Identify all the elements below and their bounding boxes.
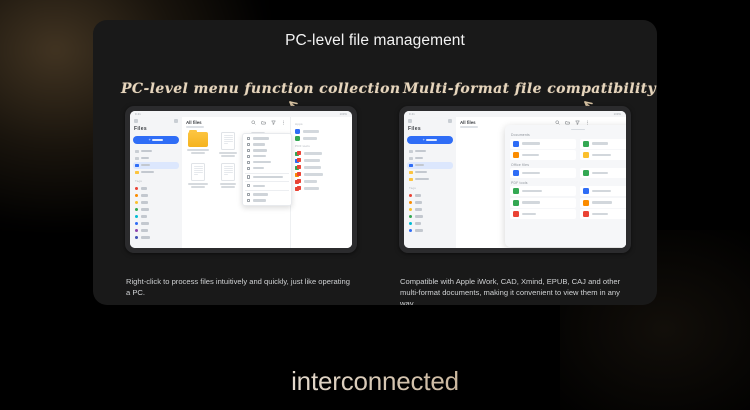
tablet-left-screen: 9:41 100% Files + Tags <box>130 111 352 248</box>
file-name <box>188 183 208 185</box>
doc-line <box>224 139 233 140</box>
file-main-pane: All files DocumentsOffice filesPDF tools <box>456 117 594 248</box>
pdf-file-icon <box>295 158 301 164</box>
file-type-icon <box>513 170 519 176</box>
file-type-icon <box>583 211 589 217</box>
file-main-pane: All files <box>182 117 290 248</box>
sidebar-tag-list[interactable] <box>133 185 179 241</box>
breadcrumb-subline <box>460 126 478 128</box>
tag-dot-icon <box>135 215 138 218</box>
tag-dot-icon <box>135 236 138 239</box>
sidebar-item-label <box>141 157 149 159</box>
info-row-label <box>304 173 323 175</box>
new-button-label <box>426 139 437 141</box>
sidebar-tag-label <box>141 236 150 238</box>
menu-item-icon <box>247 167 250 170</box>
info-row[interactable] <box>295 150 349 157</box>
brand-wordmark: interconnected <box>0 366 750 397</box>
tablet-right-screen: 9:41 100% Files + Tags <box>404 111 626 248</box>
tag-dot-icon <box>409 208 412 211</box>
sidebar-tag-item[interactable] <box>133 227 179 234</box>
sidebar-item-label <box>141 164 150 166</box>
dialog-item[interactable] <box>580 150 626 160</box>
tag-dot-icon <box>135 208 138 211</box>
info-row-label <box>304 180 317 182</box>
dialog-item-label <box>592 201 612 203</box>
filter-icon[interactable] <box>271 120 276 125</box>
sidebar-section-label: Tags <box>409 186 453 190</box>
doc-line <box>194 168 203 169</box>
doc-line <box>224 137 233 138</box>
sidebar-item-label <box>415 150 426 152</box>
back-icon[interactable] <box>408 119 412 123</box>
file-item[interactable] <box>216 163 240 188</box>
doc-line <box>194 174 199 175</box>
dialog-item[interactable] <box>580 186 626 196</box>
dialog-item[interactable] <box>580 139 626 149</box>
menu-item-label <box>253 193 268 195</box>
app-icon <box>295 129 300 134</box>
tag-dot-icon <box>135 194 138 197</box>
sidebar-title: Files <box>408 126 453 132</box>
sidebar-item-icon <box>409 164 413 167</box>
sidebar-item-icon <box>135 171 139 174</box>
sidebar-tag-label <box>141 215 147 217</box>
sidebar-item-label <box>415 171 427 173</box>
sidebar-tag-item[interactable] <box>133 213 179 220</box>
doc-line <box>224 170 233 171</box>
document-icon <box>191 163 205 181</box>
sidebar-item-list[interactable] <box>407 148 453 183</box>
sidebar-item-icon <box>135 164 139 167</box>
doc-line <box>224 168 233 169</box>
menu-item-icon <box>247 161 250 164</box>
dialog-item-label <box>522 172 540 174</box>
dialog-item[interactable] <box>510 209 576 219</box>
status-time: 9:41 <box>135 113 141 116</box>
file-item[interactable] <box>186 132 210 154</box>
menu-item-icon <box>247 184 250 187</box>
dialog-item-label <box>592 190 611 192</box>
dialog-grid <box>510 168 626 178</box>
breadcrumb-label: All files <box>460 120 476 125</box>
dialog-item[interactable] <box>580 168 626 178</box>
doc-line <box>224 174 229 175</box>
heading-right: Multi-format file compatibility <box>403 81 656 97</box>
dialog-item-label <box>592 142 608 144</box>
sidebar-tag-item[interactable] <box>407 199 453 206</box>
doc-line <box>224 166 233 167</box>
doc-line <box>194 166 203 167</box>
new-button[interactable]: + <box>133 136 179 144</box>
dialog-grid <box>510 139 626 161</box>
context-menu-item[interactable] <box>243 183 291 189</box>
sidebar-item[interactable] <box>133 148 179 155</box>
file-sidebar[interactable]: Files + Tags <box>404 117 456 248</box>
menu-item-icon <box>247 199 250 202</box>
sidebar-item[interactable] <box>407 155 453 162</box>
sidebar-item-label <box>415 178 428 180</box>
file-toolbar[interactable] <box>251 120 286 125</box>
context-menu-item[interactable] <box>243 165 291 171</box>
dialog-section-label: Office files <box>511 163 626 167</box>
info-row-label <box>304 166 321 168</box>
tag-dot-icon <box>409 194 412 197</box>
context-menu-item[interactable] <box>243 198 291 204</box>
file-type-dialog[interactable]: DocumentsOffice filesPDF tools <box>505 125 626 247</box>
menu-item-label <box>253 199 266 201</box>
menu-item-icon <box>247 155 250 158</box>
sidebar-item-icon <box>409 150 413 153</box>
sidebar-tag-item[interactable] <box>407 227 453 234</box>
tag-dot-icon <box>135 222 138 225</box>
doc-line <box>224 135 233 136</box>
pdf-file-icon <box>295 172 301 178</box>
breadcrumb-subline <box>186 126 204 128</box>
file-type-icon <box>513 188 519 194</box>
heading-left: PC-level menu function collection <box>121 81 400 97</box>
caption-right: Compatible with Apple iWork, CAD, Xmind,… <box>400 276 628 305</box>
sidebar-tag-label <box>141 187 147 189</box>
dialog-item-label <box>592 172 608 174</box>
tag-dot-icon <box>409 201 412 204</box>
menu-item-icon <box>247 143 250 146</box>
dialog-item[interactable] <box>580 209 626 219</box>
sidebar-item[interactable] <box>407 176 453 183</box>
sidebar-item[interactable] <box>407 162 453 169</box>
tag-dot-icon <box>409 215 412 218</box>
sidebar-item[interactable] <box>133 155 179 162</box>
info-row-label <box>304 187 319 189</box>
file-item[interactable] <box>186 163 210 188</box>
sidebar-tag-list[interactable] <box>407 192 453 234</box>
status-battery: 100% <box>340 113 347 116</box>
info-row[interactable] <box>295 164 349 171</box>
folder-icon <box>188 132 208 147</box>
document-icon <box>221 132 235 150</box>
doc-line <box>194 172 203 173</box>
info-row[interactable] <box>295 185 349 192</box>
tablet-right: 9:41 100% Files + Tags <box>399 106 631 253</box>
pdf-file-icon <box>295 165 301 171</box>
info-row[interactable] <box>295 157 349 164</box>
tag-dot-icon <box>409 229 412 232</box>
new-button[interactable]: + <box>407 136 453 144</box>
gear-icon[interactable] <box>448 119 452 123</box>
sidebar-tag-label <box>415 229 423 231</box>
dialog-item-label <box>522 213 536 215</box>
file-type-icon <box>583 200 589 206</box>
sidebar-tag-item[interactable] <box>133 206 179 213</box>
sidebar-item-icon <box>135 150 139 153</box>
info-row-label <box>303 137 317 139</box>
dialog-item-label <box>522 142 540 144</box>
menu-item-label <box>253 143 265 145</box>
menu-item-label <box>253 176 283 178</box>
sidebar-tag-label <box>415 194 421 196</box>
sidebar-item[interactable] <box>407 169 453 176</box>
dialog-grabber[interactable] <box>571 129 585 130</box>
dialog-item-label <box>592 213 608 215</box>
file-type-icon <box>583 141 589 147</box>
file-type-icon <box>513 152 519 158</box>
file-name <box>219 152 238 154</box>
sidebar-tag-item[interactable] <box>407 192 453 199</box>
caption-left: Right-click to process files intuitively… <box>126 276 354 298</box>
gear-icon[interactable] <box>174 119 178 123</box>
info-row[interactable] <box>295 178 349 185</box>
file-meta <box>191 186 205 188</box>
new-button-label <box>152 139 163 141</box>
sidebar-tag-label <box>141 229 148 231</box>
app-icon <box>295 136 300 141</box>
tag-dot-icon <box>135 201 138 204</box>
menu-item-label <box>253 149 267 151</box>
dialog-item[interactable] <box>580 198 626 208</box>
menu-item-icon <box>247 149 250 152</box>
sidebar-tag-item[interactable] <box>133 199 179 206</box>
feature-card: PC-level file management PC-level menu f… <box>93 20 657 305</box>
doc-line <box>224 143 229 144</box>
context-menu-item[interactable] <box>243 174 291 180</box>
tag-dot-icon <box>409 222 412 225</box>
menu-item-label <box>253 155 266 157</box>
sidebar-item-icon <box>409 178 413 181</box>
sidebar-item[interactable] <box>133 169 179 176</box>
sidebar-section-label: Tags <box>135 179 179 183</box>
sidebar-tag-item[interactable] <box>407 220 453 227</box>
file-info-pane[interactable]: AppsPDF tools <box>290 117 352 248</box>
dialog-item-label <box>522 154 539 156</box>
menu-item-icon <box>247 193 250 196</box>
sidebar-tag-label <box>415 222 421 224</box>
dialog-section-label: Documents <box>511 133 626 137</box>
doc-line <box>194 170 203 171</box>
sidebar-header <box>407 119 453 123</box>
search-icon[interactable] <box>251 120 256 125</box>
more-icon[interactable] <box>281 120 286 125</box>
back-icon[interactable] <box>134 119 138 123</box>
sidebar-tag-item[interactable] <box>133 185 179 192</box>
sidebar-tag-label <box>141 201 148 203</box>
status-battery: 100% <box>614 113 621 116</box>
file-type-icon <box>513 200 519 206</box>
sidebar-item-label <box>141 171 154 173</box>
sidebar-item-label <box>415 164 424 166</box>
menu-item-label <box>253 185 265 187</box>
tag-dot-icon <box>135 187 138 190</box>
dialog-grid <box>510 186 626 219</box>
file-meta <box>221 155 235 157</box>
info-row[interactable] <box>295 171 349 178</box>
sidebar-tag-label <box>141 222 149 224</box>
sidebar-tag-label <box>415 215 423 217</box>
sidebar-item-label <box>141 150 152 152</box>
sidebar-tag-label <box>415 201 423 203</box>
dialog-item-label <box>522 201 540 203</box>
dialog-item[interactable] <box>510 168 576 178</box>
sidebar-tag-label <box>141 194 149 196</box>
pdf-file-icon <box>295 186 301 192</box>
file-type-icon <box>513 141 519 147</box>
sidebar-item-icon <box>135 157 139 160</box>
info-row-label <box>304 159 320 161</box>
sidebar-item-label <box>415 157 423 159</box>
menu-item-label <box>253 161 271 163</box>
file-type-icon <box>583 188 589 194</box>
menu-item-icon <box>247 175 250 178</box>
doc-line <box>224 172 233 173</box>
file-sidebar[interactable]: Files + Tags <box>130 117 182 248</box>
breadcrumb-label: All files <box>186 120 202 125</box>
dialog-item[interactable] <box>510 139 576 149</box>
menu-item-label <box>253 167 264 169</box>
menu-item-icon <box>247 137 250 140</box>
status-time: 9:41 <box>409 113 415 116</box>
info-section-label: PDF tools <box>295 144 349 148</box>
pdf-file-icon <box>295 151 301 157</box>
context-menu[interactable] <box>242 133 292 206</box>
dialog-item[interactable] <box>510 186 576 196</box>
tag-dot-icon <box>135 229 138 232</box>
dialog-section-label: PDF tools <box>511 181 626 185</box>
document-icon <box>221 163 235 181</box>
info-row[interactable] <box>295 135 349 142</box>
sidebar-tag-item[interactable] <box>133 220 179 227</box>
sidebar-item-list[interactable] <box>133 148 179 176</box>
plus-icon: + <box>149 138 151 142</box>
dialog-item[interactable] <box>510 150 576 160</box>
sidebar-tag-item[interactable] <box>133 192 179 199</box>
menu-item-label <box>253 137 269 139</box>
dialog-item[interactable] <box>510 198 576 208</box>
sidebar-tag-label <box>415 208 422 210</box>
sidebar-item-icon <box>409 171 413 174</box>
page-title: PC-level file management <box>93 32 657 50</box>
file-meta <box>191 152 205 154</box>
dialog-item-label <box>522 190 542 192</box>
sidebar-title: Files <box>134 126 179 132</box>
sidebar-tag-label <box>141 208 149 210</box>
file-name <box>187 149 209 151</box>
info-row-label <box>304 152 322 154</box>
sidebar-tag-item[interactable] <box>407 213 453 220</box>
file-item[interactable] <box>216 132 240 157</box>
dialog-item-label <box>592 154 611 156</box>
info-section-label: Apps <box>295 122 349 126</box>
sidebar-header <box>133 119 179 123</box>
pdf-file-icon <box>295 179 301 185</box>
file-name <box>220 183 237 185</box>
file-type-icon <box>513 211 519 217</box>
file-meta <box>221 186 235 188</box>
sidebar-item-icon <box>409 157 413 160</box>
info-row-label <box>303 130 319 132</box>
sidebar-tag-item[interactable] <box>133 234 179 241</box>
tablet-left: 9:41 100% Files + Tags <box>125 106 357 253</box>
file-type-icon <box>583 170 589 176</box>
sidebar-tag-item[interactable] <box>407 206 453 213</box>
sidebar-item[interactable] <box>133 162 179 169</box>
file-type-icon <box>583 152 589 158</box>
folder-icon[interactable] <box>261 120 266 125</box>
plus-icon: + <box>423 138 425 142</box>
info-row[interactable] <box>295 128 349 135</box>
sidebar-item[interactable] <box>407 148 453 155</box>
doc-line <box>224 141 233 142</box>
